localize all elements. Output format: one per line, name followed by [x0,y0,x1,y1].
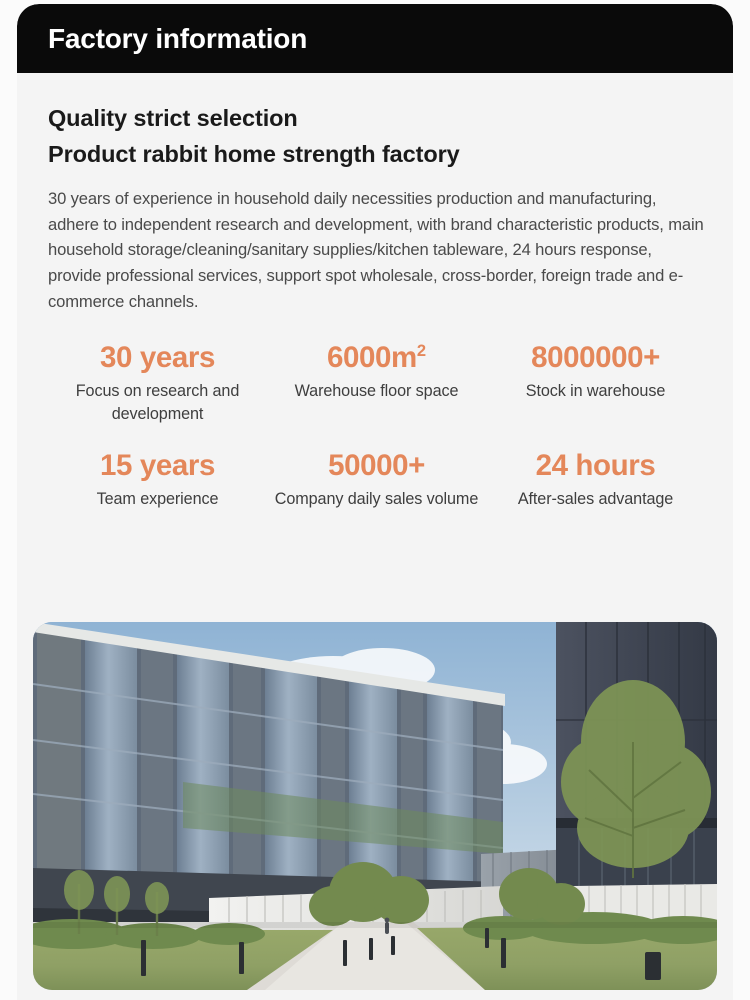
stat-value: 6000m2 [271,341,482,375]
stat-value-text: 50000+ [328,449,425,482]
stat-label: Company daily sales volume [271,488,482,511]
stat-value-text: 8000000+ [531,341,660,374]
intro-paragraph: 30 years of experience in household dail… [48,186,705,315]
stat-value-text: 30 years [100,341,215,374]
stat-item-after-sales: 24 hours After-sales advantage [486,449,705,511]
factory-information-page: Factory information Quality strict selec… [0,0,750,1000]
stat-value-text: 24 hours [536,449,656,482]
stat-item-warehouse-area: 6000m2 Warehouse floor space [267,341,486,426]
stat-value-text: 6000m [327,341,417,374]
stat-value: 24 hours [490,449,701,483]
card-header-bar: Factory information [17,4,733,73]
stat-label: After-sales advantage [490,488,701,511]
page-title: Factory information [48,25,307,53]
factory-photo-image [33,622,717,990]
stat-value: 15 years [52,449,263,483]
stat-label: Focus on research and development [52,380,263,426]
section-headline: Quality strict selection Product rabbit … [48,100,705,173]
card-body: Quality strict selection Product rabbit … [17,100,733,511]
factory-photo [33,622,717,990]
stat-value: 8000000+ [490,341,701,375]
stats-grid: 30 years Focus on research and developme… [48,341,705,511]
stat-item-team-experience: 15 years Team experience [48,449,267,511]
headline-line-2: Product rabbit home strength factory [48,136,705,172]
stat-item-years-rd: 30 years Focus on research and developme… [48,341,267,426]
stat-value-superscript: 2 [417,342,426,361]
stat-value-text: 15 years [100,449,215,482]
headline-line-1: Quality strict selection [48,100,705,136]
stat-value: 30 years [52,341,263,375]
stat-item-stock: 8000000+ Stock in warehouse [486,341,705,426]
stat-item-daily-sales: 50000+ Company daily sales volume [267,449,486,511]
stat-label: Stock in warehouse [490,380,701,403]
stat-label: Warehouse floor space [271,380,482,403]
stat-label: Team experience [52,488,263,511]
stat-value: 50000+ [271,449,482,483]
